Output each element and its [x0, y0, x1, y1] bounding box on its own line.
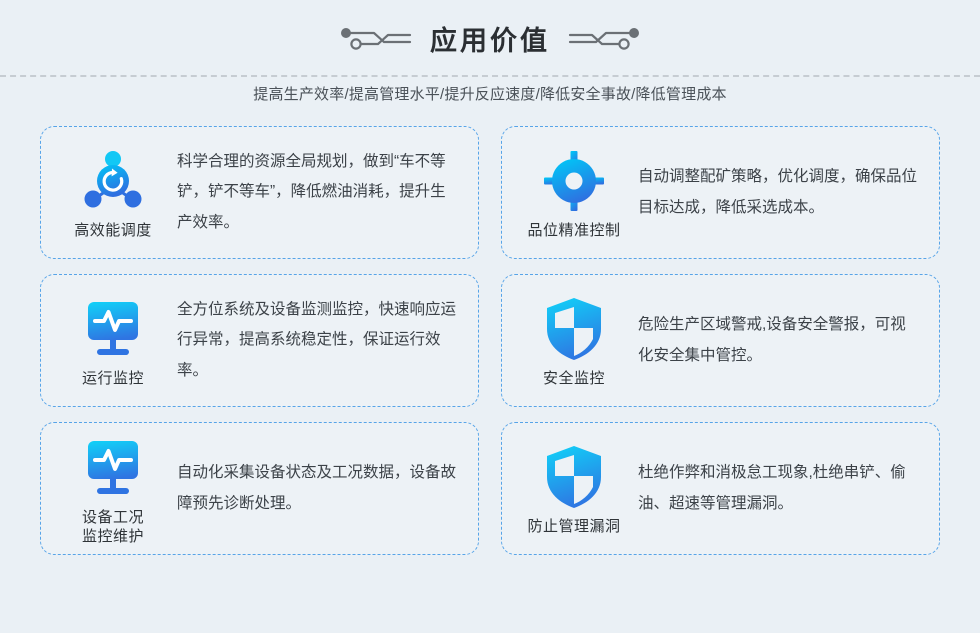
card-label: 高效能调度 — [74, 222, 152, 241]
card-label: 安全监控 — [543, 370, 605, 389]
circuit-line-right-icon — [568, 26, 640, 57]
circuit-line-left-icon — [340, 26, 412, 57]
card-icon-column: 防止管理漏洞 — [520, 440, 628, 537]
card-label: 品位精准控制 — [527, 222, 620, 241]
card-description: 杜绝作弊和消极怠工现象,杜绝串铲、偷油、超速等管理漏洞。 — [628, 458, 923, 518]
value-card-grid: 高效能调度 科学合理的资源全局规划，做到“车不等铲，铲不等车”，降低燃油消耗，提… — [40, 126, 940, 555]
card-icon-column: 品位精准控制 — [520, 144, 628, 241]
card-label: 设备工况 监控维护 — [82, 509, 144, 547]
card-icon-column: 安全监控 — [520, 292, 628, 389]
value-card[interactable]: 防止管理漏洞 杜绝作弊和消极怠工现象,杜绝串铲、偷油、超速等管理漏洞。 — [501, 422, 940, 555]
target-crosshair-icon — [541, 144, 607, 218]
value-card[interactable]: 品位精准控制 自动调整配矿策略，优化调度，确保品位目标达成，降低采选成本。 — [501, 126, 940, 259]
card-icon-column: 设备工况 监控维护 — [59, 431, 167, 547]
card-label: 运行监控 — [82, 370, 144, 389]
page-header: 应用价值 — [0, 0, 980, 57]
value-card[interactable]: 安全监控 危险生产区域警戒,设备安全警报，可视化安全集中管控。 — [501, 274, 940, 407]
page-title: 应用价值 — [430, 28, 550, 55]
value-card[interactable]: 高效能调度 科学合理的资源全局规划，做到“车不等铲，铲不等车”，降低燃油消耗，提… — [40, 126, 479, 259]
shield-icon — [543, 292, 605, 366]
monitor-pulse-icon — [80, 292, 146, 366]
shield-icon — [543, 440, 605, 514]
value-card[interactable]: 运行监控 全方位系统及设备监测监控，快速响应运行异常，提高系统稳定性，保证运行效… — [40, 274, 479, 407]
card-icon-column: 运行监控 — [59, 292, 167, 389]
card-description: 科学合理的资源全局规划，做到“车不等铲，铲不等车”，降低燃油消耗，提升生产效率。 — [167, 147, 462, 238]
monitor-pulse-icon — [80, 431, 146, 505]
card-description: 自动调整配矿策略，优化调度，确保品位目标达成，降低采选成本。 — [628, 162, 923, 222]
card-icon-column: 高效能调度 — [59, 144, 167, 241]
header-divider — [0, 75, 980, 77]
card-description: 危险生产区域警戒,设备安全警报，可视化安全集中管控。 — [628, 310, 923, 370]
card-description: 全方位系统及设备监测监控，快速响应运行异常，提高系统稳定性，保证运行效率。 — [167, 295, 462, 386]
page-subtitle: 提高生产效率/提高管理水平/提升反应速度/降低安全事故/降低管理成本 — [0, 83, 980, 104]
card-description: 自动化采集设备状态及工况数据，设备故障预先诊断处理。 — [167, 458, 462, 518]
value-card[interactable]: 设备工况 监控维护 自动化采集设备状态及工况数据，设备故障预先诊断处理。 — [40, 422, 479, 555]
card-label: 防止管理漏洞 — [527, 518, 620, 537]
scheduling-network-icon — [80, 144, 146, 218]
